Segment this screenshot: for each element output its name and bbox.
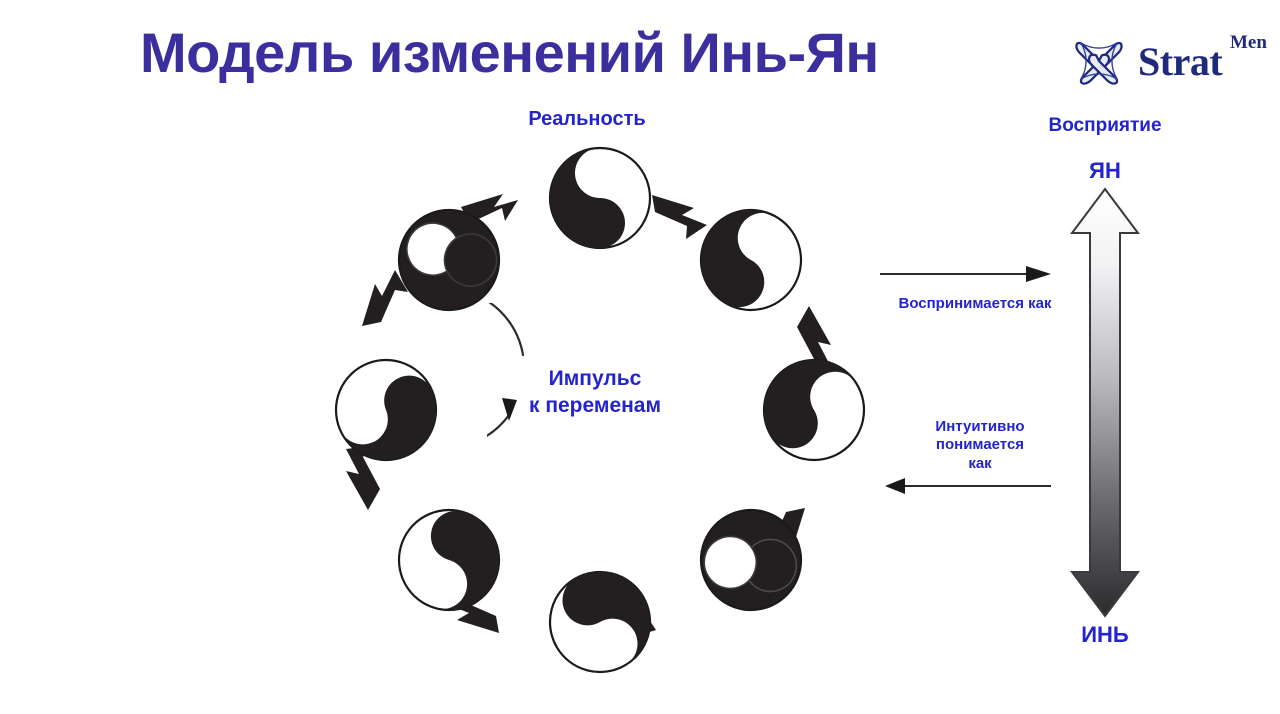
intuitively-understood-arrow [885, 474, 1053, 498]
logo[interactable]: Strat Men [1062, 24, 1272, 96]
perceived-as-arrow [878, 262, 1053, 286]
perceived-as-label: Воспринимается как [855, 295, 1095, 312]
intuitive-line-2: понимается [905, 436, 1055, 454]
impulse-caption: Импульс к переменам [495, 365, 695, 420]
impulse-line-2: к переменам [495, 392, 695, 419]
interlaced-knot-icon [1062, 26, 1136, 96]
cycle-node [532, 554, 669, 691]
page-title: Модель изменений Инь-Ян [140, 22, 1040, 84]
cycle-node [321, 345, 451, 475]
impulse-line-1: Импульс [495, 365, 695, 392]
cycle-node [745, 341, 883, 479]
yin-yang-gradient-scale-arrow [1060, 185, 1150, 620]
logo-text: Strat [1138, 38, 1222, 85]
yang-label: ЯН [1035, 158, 1175, 184]
slide-canvas: Модель изменений Инь-Ян Strat Men [0, 0, 1280, 714]
cycle-node [683, 192, 818, 327]
yin-label: ИНЬ [1035, 622, 1175, 648]
logo-superscript: Men [1230, 32, 1267, 54]
reality-label: Реальность [452, 108, 722, 131]
intuitively-understood-label: Интуитивно понимается как [905, 418, 1055, 473]
cycle-node [550, 148, 650, 248]
perception-label: Восприятие [985, 115, 1225, 137]
cycle-node [387, 498, 511, 622]
intuitive-line-1: Интуитивно [905, 418, 1055, 436]
intuitive-line-3: как [905, 455, 1055, 473]
